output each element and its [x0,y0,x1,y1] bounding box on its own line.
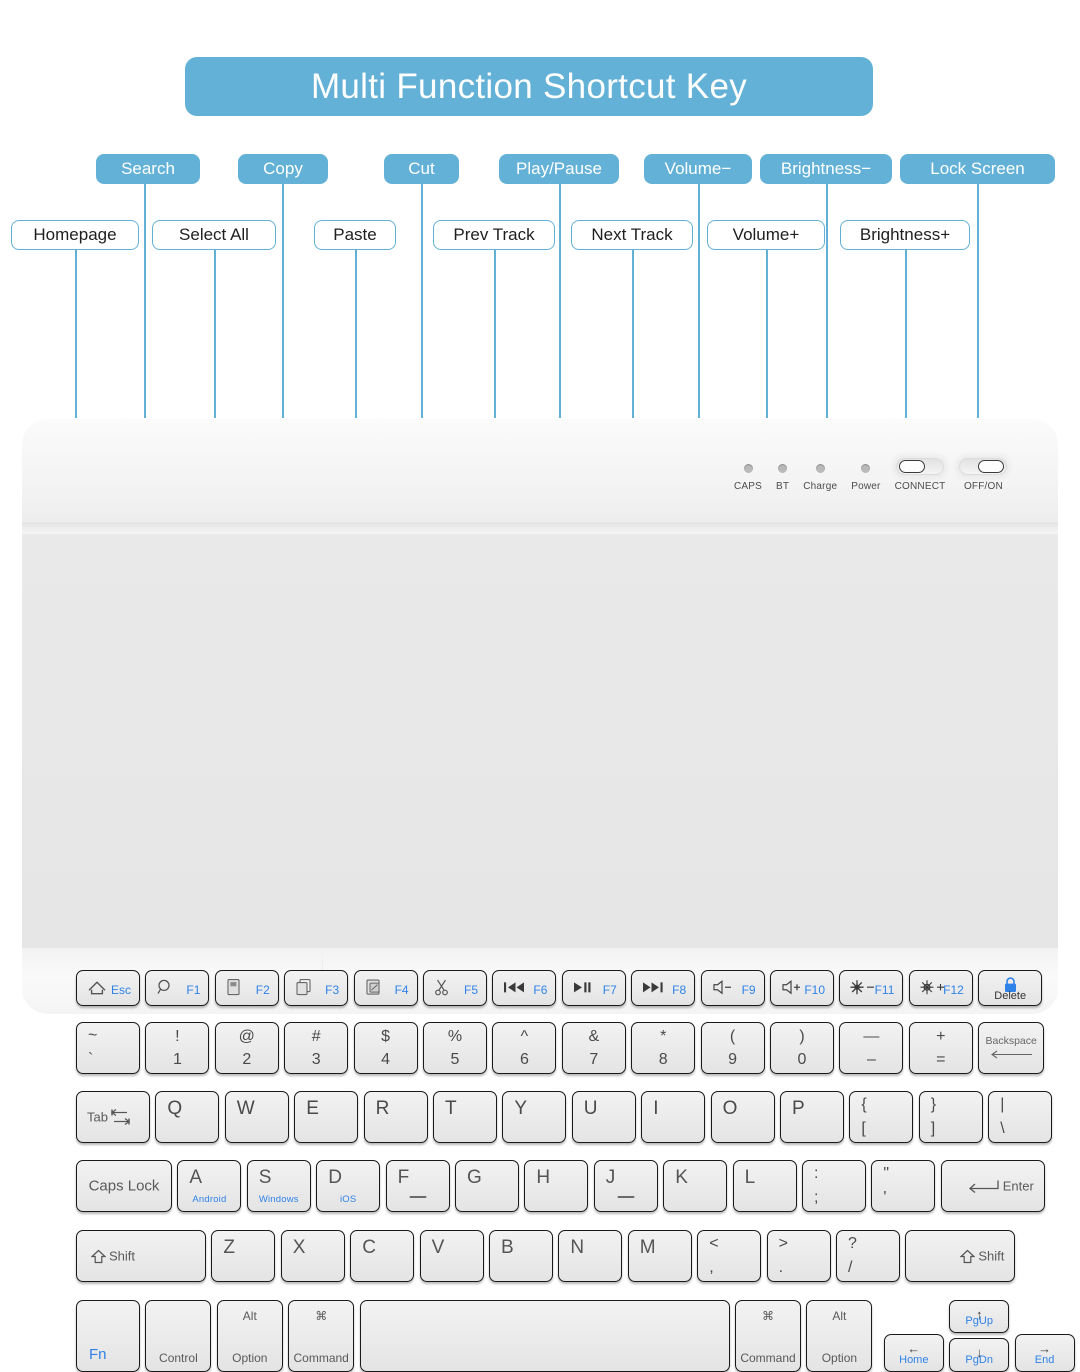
key-j[interactable]: J [594,1160,658,1212]
key-key[interactable]: >. [767,1230,831,1282]
key-4[interactable]: $4 [354,1022,418,1074]
led-dot-icon [861,464,870,473]
key-shift-label: — [863,1028,879,1046]
callout-brightness: Brightness− [760,154,892,184]
callout-paste: Paste [314,220,396,250]
key-f5[interactable]: F5 [423,970,487,1006]
key-shift-label-wrap: Shift [960,1249,1004,1264]
led-label: BT [776,481,789,492]
key-alt-label: Alt [807,1309,871,1323]
key-control[interactable]: Control [145,1300,211,1372]
key-label: T [445,1098,457,1120]
key-shift-label: $ [381,1028,390,1046]
key-esc[interactable]: Esc [76,970,140,1006]
paste-icon [365,978,383,996]
key-label: V [432,1237,445,1259]
enter-icon [966,1179,1000,1193]
key-label: L [745,1167,756,1189]
key-g[interactable]: G [455,1160,519,1212]
key-7[interactable]: &7 [562,1022,626,1074]
key-base-label: \ [1000,1120,1004,1138]
callout-label: Search [121,159,175,179]
key-fn-label: F3 [325,983,339,997]
key-6[interactable]: ^6 [492,1022,556,1074]
key-base-label: . [779,1259,783,1277]
callout-label: Volume− [665,159,732,179]
indicator-cluster: CAPSBTChargePowerCONNECTOFF/ON [734,458,1021,492]
led-label: Power [851,481,880,492]
key-key[interactable]: <, [697,1230,761,1282]
key-key[interactable]: }] [919,1091,983,1143]
led-charge: Charge [803,464,837,492]
shift-arrow-icon [91,1249,106,1263]
callout-label: Paste [333,225,376,245]
key-f12[interactable]: F12 [909,970,973,1006]
callout-label: Select All [179,225,249,245]
copy-icon [295,978,313,996]
key-f1[interactable]: F1 [145,970,209,1006]
key-label: P [792,1098,805,1120]
key-shift-label: " [883,1165,889,1183]
key-fn-label: F5 [464,983,478,997]
key-label: Shift [978,1249,1004,1264]
key-label: X [293,1237,306,1259]
key-9[interactable]: (9 [701,1022,765,1074]
key-label: G [467,1167,482,1189]
key-label: Backspace [979,1035,1043,1047]
keyboard-deck [22,534,1058,954]
key-shift-label: ~ [88,1027,97,1045]
callout-cut: Cut [384,154,459,184]
key-pgdn-arrow-down[interactable]: ↓PgDn [949,1338,1009,1372]
callout-label: Prev Track [453,225,534,245]
key-shift-label-wrap: Shift [91,1249,135,1264]
play-pause-icon [573,981,593,994]
key-5[interactable]: %5 [423,1022,487,1074]
key-fn[interactable]: Fn [76,1300,140,1372]
key-r[interactable]: R [364,1091,428,1143]
callout-brightness: Brightness+ [840,220,970,250]
tab-icon [111,1109,137,1126]
keyboard: CAPSBTChargePowerCONNECTOFF/ON EscF1F2F3… [22,418,1058,1018]
key-f6[interactable]: F6 [492,970,556,1006]
callout-next-track: Next Track [571,220,693,250]
led-power: Power [851,464,880,492]
callout-prev-track: Prev Track [433,220,555,250]
key-shift-label: ? [848,1235,857,1253]
key-2[interactable]: @2 [215,1022,279,1074]
key-k[interactable]: K [663,1160,727,1212]
next-track-icon [642,981,664,994]
key-base-label: 2 [242,1051,251,1069]
key-label: N [570,1237,584,1259]
key-base-label: ] [931,1120,935,1138]
key-base-label: 5 [451,1051,460,1069]
led-dot-icon [816,464,825,473]
key-x[interactable]: X [281,1230,345,1282]
callout-volume: Volume+ [707,220,825,250]
key-shift-label: % [448,1028,462,1046]
key-f11[interactable]: F11 [839,970,903,1006]
key-label: C [362,1237,376,1259]
key-shift-left[interactable]: Shift [76,1230,206,1282]
key-nav-label: End [1016,1354,1074,1366]
key-fn-label: F9 [742,983,756,997]
key-base-label: 0 [798,1051,807,1069]
key-command-right[interactable]: ⌘Command [735,1300,801,1372]
key-s[interactable]: SWindows [247,1160,311,1212]
key-base-label: ; [814,1189,818,1207]
key-e[interactable]: E [294,1091,358,1143]
key-label: S [259,1167,272,1189]
key-label: Option [218,1351,282,1365]
led-label: CAPS [734,481,762,492]
key-base-label: 7 [589,1051,598,1069]
key-key[interactable]: ~` [76,1022,140,1074]
key-space[interactable] [360,1300,730,1372]
key-os-label: Windows [248,1194,310,1205]
key-shift-right[interactable]: Shift [905,1230,1015,1282]
key-base-label: / [848,1259,852,1277]
key-shift-label: ^ [521,1028,529,1046]
homing-bar-icon [617,1196,634,1198]
key-base-label: [ [861,1120,865,1138]
key-label: Command [736,1351,800,1365]
switch-label: CONNECT [895,481,946,492]
key-label: I [653,1098,658,1120]
prev-track-icon [503,981,525,994]
key-label: Delete [979,990,1041,1002]
key-label: O [723,1098,738,1120]
key-label: Command [289,1351,353,1365]
key-nav-label: PgUp [950,1315,1008,1327]
key-os-label: Android [178,1194,240,1205]
key-shift-label: # [312,1028,321,1046]
callout-label: Copy [263,159,303,179]
key-key[interactable]: "' [871,1160,935,1212]
key-p[interactable]: P [780,1091,844,1143]
key-fn-label: F12 [943,983,964,997]
shift-arrow-icon [960,1249,975,1263]
led-bt: BT [776,464,789,492]
callout-label: Homepage [33,225,116,245]
home-icon [87,979,107,995]
key-caps-lock[interactable]: Caps Lock [76,1160,172,1212]
key-pgup-arrow-up[interactable]: ↑PgUp [949,1300,1009,1333]
key-shift-label: & [588,1028,599,1046]
key-fn-label: F4 [395,983,409,997]
switch-knob[interactable] [978,460,1004,473]
key-l[interactable]: L [733,1160,797,1212]
key-label: B [501,1237,514,1259]
key-delete[interactable]: Delete [978,970,1042,1006]
key-label: Tab [87,1110,108,1125]
key-fn-label: F10 [804,983,825,997]
key-base-label: 3 [312,1051,321,1069]
key-w[interactable]: W [225,1091,289,1143]
key-fn-label: F8 [672,983,686,997]
key-shift-label: < [709,1235,718,1253]
key-f8[interactable]: F8 [631,970,695,1006]
callout-homepage: Homepage [11,220,139,250]
key-fn-label: F1 [186,983,200,997]
brightness-down-icon [850,979,876,995]
key-shift-label: + [936,1028,945,1046]
key-label: U [584,1098,598,1120]
key-h[interactable]: H [524,1160,588,1212]
keyboard-top-bezel: CAPSBTChargePowerCONNECTOFF/ON [22,418,1058,528]
key-label: M [640,1237,656,1259]
switch-off-on[interactable]: OFF/ON [959,458,1007,492]
key-tab-label-wrap: Tab [87,1109,137,1126]
key-f3[interactable]: F3 [284,970,348,1006]
key-base-label: 8 [659,1051,668,1069]
callout-search: Search [96,154,200,184]
key-q[interactable]: Q [155,1091,219,1143]
key-a[interactable]: AAndroid [177,1160,241,1212]
key-option-right[interactable]: AltOption [806,1300,872,1372]
key-u[interactable]: U [572,1091,636,1143]
key-0[interactable]: )0 [770,1022,834,1074]
key-fn-label: F11 [875,983,895,997]
key-label: K [675,1167,688,1189]
key-fn-label: F6 [533,983,547,997]
key-label: Enter [1003,1179,1034,1194]
key-f4[interactable]: F4 [354,970,418,1006]
key-end-arrow-right[interactable]: →End [1015,1334,1075,1372]
key-label: Y [514,1098,527,1120]
key-f10[interactable]: F10 [770,970,834,1006]
switch-label: OFF/ON [964,481,1003,492]
key-label: Fn [89,1346,107,1363]
key-command-left[interactable]: ⌘Command [288,1300,354,1372]
key-z[interactable]: Z [211,1230,275,1282]
key-label: H [536,1167,550,1189]
key-shift-label: > [779,1235,788,1253]
key-label: Shift [109,1249,135,1264]
callout-label: Lock Screen [930,159,1025,179]
callout-play-pause: Play/Pause [499,154,619,184]
switch-knob[interactable] [899,460,925,473]
key-shift-label: | [1000,1096,1004,1114]
key-v[interactable]: V [420,1230,484,1282]
page-title-banner: Multi Function Shortcut Key [185,57,873,116]
key-label: F [398,1167,410,1189]
key-c[interactable]: C [350,1230,414,1282]
key-label: W [237,1098,255,1120]
key-f2[interactable]: F2 [215,970,279,1006]
key-b[interactable]: B [489,1230,553,1282]
key-alt-label: Alt [218,1309,282,1323]
key-f[interactable]: F [386,1160,450,1212]
key-3[interactable]: #3 [284,1022,348,1074]
key-nav-label: PgDn [950,1354,1008,1366]
key-home-arrow-left[interactable]: ←Home [884,1334,944,1372]
key-os-label: iOS [317,1194,379,1205]
volume-down-icon [712,980,736,995]
cut-icon [434,978,450,996]
switch-connect[interactable]: CONNECT [895,458,946,492]
key-label: Control [146,1351,210,1365]
callout-copy: Copy [238,154,328,184]
key-shift-label: : [814,1165,818,1183]
key-key[interactable]: += [909,1022,973,1074]
key-base-label: 9 [728,1051,737,1069]
volume-up-icon [781,980,805,995]
homing-bar-icon [409,1196,426,1198]
key-label: Z [223,1237,235,1259]
select-all-icon [226,978,242,996]
key-option-left[interactable]: AltOption [217,1300,283,1372]
key-key[interactable]: —– [839,1022,903,1074]
key-backspace[interactable]: Backspace [978,1022,1044,1074]
key-f9[interactable]: F9 [701,970,765,1006]
led-label: Charge [803,481,837,492]
key-o[interactable]: O [711,1091,775,1143]
key-label: Caps Lock [77,1178,171,1195]
key-8[interactable]: *8 [631,1022,695,1074]
brightness-up-icon [920,979,946,995]
key-y[interactable]: Y [502,1091,566,1143]
key-shift-label: * [660,1028,666,1046]
key-label: A [189,1167,202,1189]
key-d[interactable]: DiOS [316,1160,380,1212]
search-icon [156,978,174,996]
key-key[interactable]: ?/ [836,1230,900,1282]
key-key[interactable]: {[ [849,1091,913,1143]
key-1[interactable]: !1 [145,1022,209,1074]
key-n[interactable]: N [558,1230,622,1282]
key-key[interactable]: :; [802,1160,866,1212]
key-label: D [328,1167,342,1189]
key-fn-label: Esc [111,983,131,997]
key-base-label: ' [883,1189,886,1207]
key-f7[interactable]: F7 [562,970,626,1006]
key-base-label: – [867,1051,876,1069]
key-t[interactable]: T [433,1091,497,1143]
key-tab[interactable]: Tab [76,1091,150,1143]
switch-track[interactable] [959,458,1007,475]
callout-label: Cut [408,159,434,179]
key-i[interactable]: I [641,1091,705,1143]
key-alt-label: ⌘ [289,1309,353,1323]
key-base-label: 6 [520,1051,529,1069]
callout-volume: Volume− [644,154,752,184]
led-dot-icon [778,464,787,473]
key-label: Option [807,1351,871,1365]
key-shift-label: ( [730,1028,735,1046]
key-label: R [376,1098,390,1120]
key-alt-label: ⌘ [736,1309,800,1323]
led-caps: CAPS [734,464,762,492]
key-base-label: 1 [173,1051,182,1069]
key-shift-label: } [931,1096,936,1114]
key-base-label: = [936,1051,945,1069]
key-base-label: 4 [381,1051,390,1069]
key-fn-label: F2 [256,983,270,997]
key-key[interactable]: |\ [988,1091,1052,1143]
key-shift-label: ) [799,1028,804,1046]
key-fn-label: F7 [603,983,617,997]
key-shift-label: { [861,1096,866,1114]
callout-label: Brightness+ [860,225,950,245]
key-label: E [306,1098,319,1120]
callout-label: Play/Pause [516,159,602,179]
key-base-label: ` [88,1051,93,1069]
key-m[interactable]: M [628,1230,692,1282]
switch-track[interactable] [896,458,944,475]
key-enter[interactable]: Enter [941,1160,1045,1212]
callout-lock-screen: Lock Screen [900,154,1055,184]
key-nav-label: Home [885,1354,943,1366]
callout-select-all: Select All [152,220,276,250]
key-base-label: , [709,1259,713,1277]
callout-label: Brightness− [781,159,871,179]
key-label: J [606,1167,616,1189]
backspace-icon [979,1050,1043,1059]
key-label: Q [167,1098,182,1120]
callout-label: Next Track [591,225,672,245]
led-dot-icon [744,464,753,473]
key-enter-label-wrap: Enter [966,1179,1034,1194]
page-title: Multi Function Shortcut Key [311,67,747,107]
callout-label: Volume+ [733,225,800,245]
key-shift-label: ! [175,1028,179,1046]
key-shift-label: @ [239,1028,255,1046]
